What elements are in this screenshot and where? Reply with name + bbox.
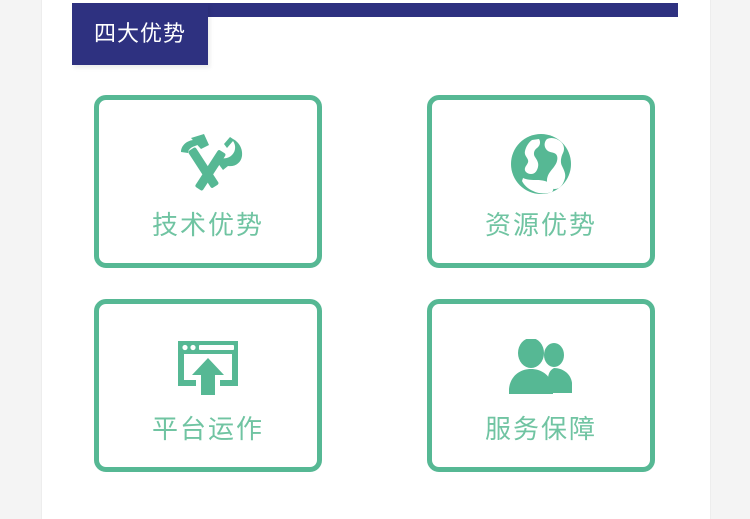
hammer-wrench-icon <box>171 130 245 198</box>
advantage-card-label: 服务保障 <box>485 416 597 442</box>
globe-icon <box>504 130 578 198</box>
advantage-card-service[interactable]: 服务保障 <box>427 299 655 472</box>
advantage-card-label: 技术优势 <box>152 212 264 238</box>
advantage-card-technology[interactable]: 技术优势 <box>94 95 322 268</box>
advantage-card-resources[interactable]: 资源优势 <box>427 95 655 268</box>
browser-upload-icon <box>171 334 245 402</box>
advantage-card-label: 资源优势 <box>485 212 597 238</box>
page-title: 四大优势 <box>94 23 186 45</box>
section-title-box: 四大优势 <box>72 3 208 65</box>
advantages-grid: 技术优势 资源优势 <box>94 95 655 472</box>
advantage-card-label: 平台运作 <box>152 416 264 442</box>
section-header: 四大优势 <box>72 3 678 65</box>
page-root: 四大优势 技术优势 <box>0 0 750 519</box>
advantage-card-platform[interactable]: 平台运作 <box>94 299 322 472</box>
two-users-icon <box>504 334 578 402</box>
